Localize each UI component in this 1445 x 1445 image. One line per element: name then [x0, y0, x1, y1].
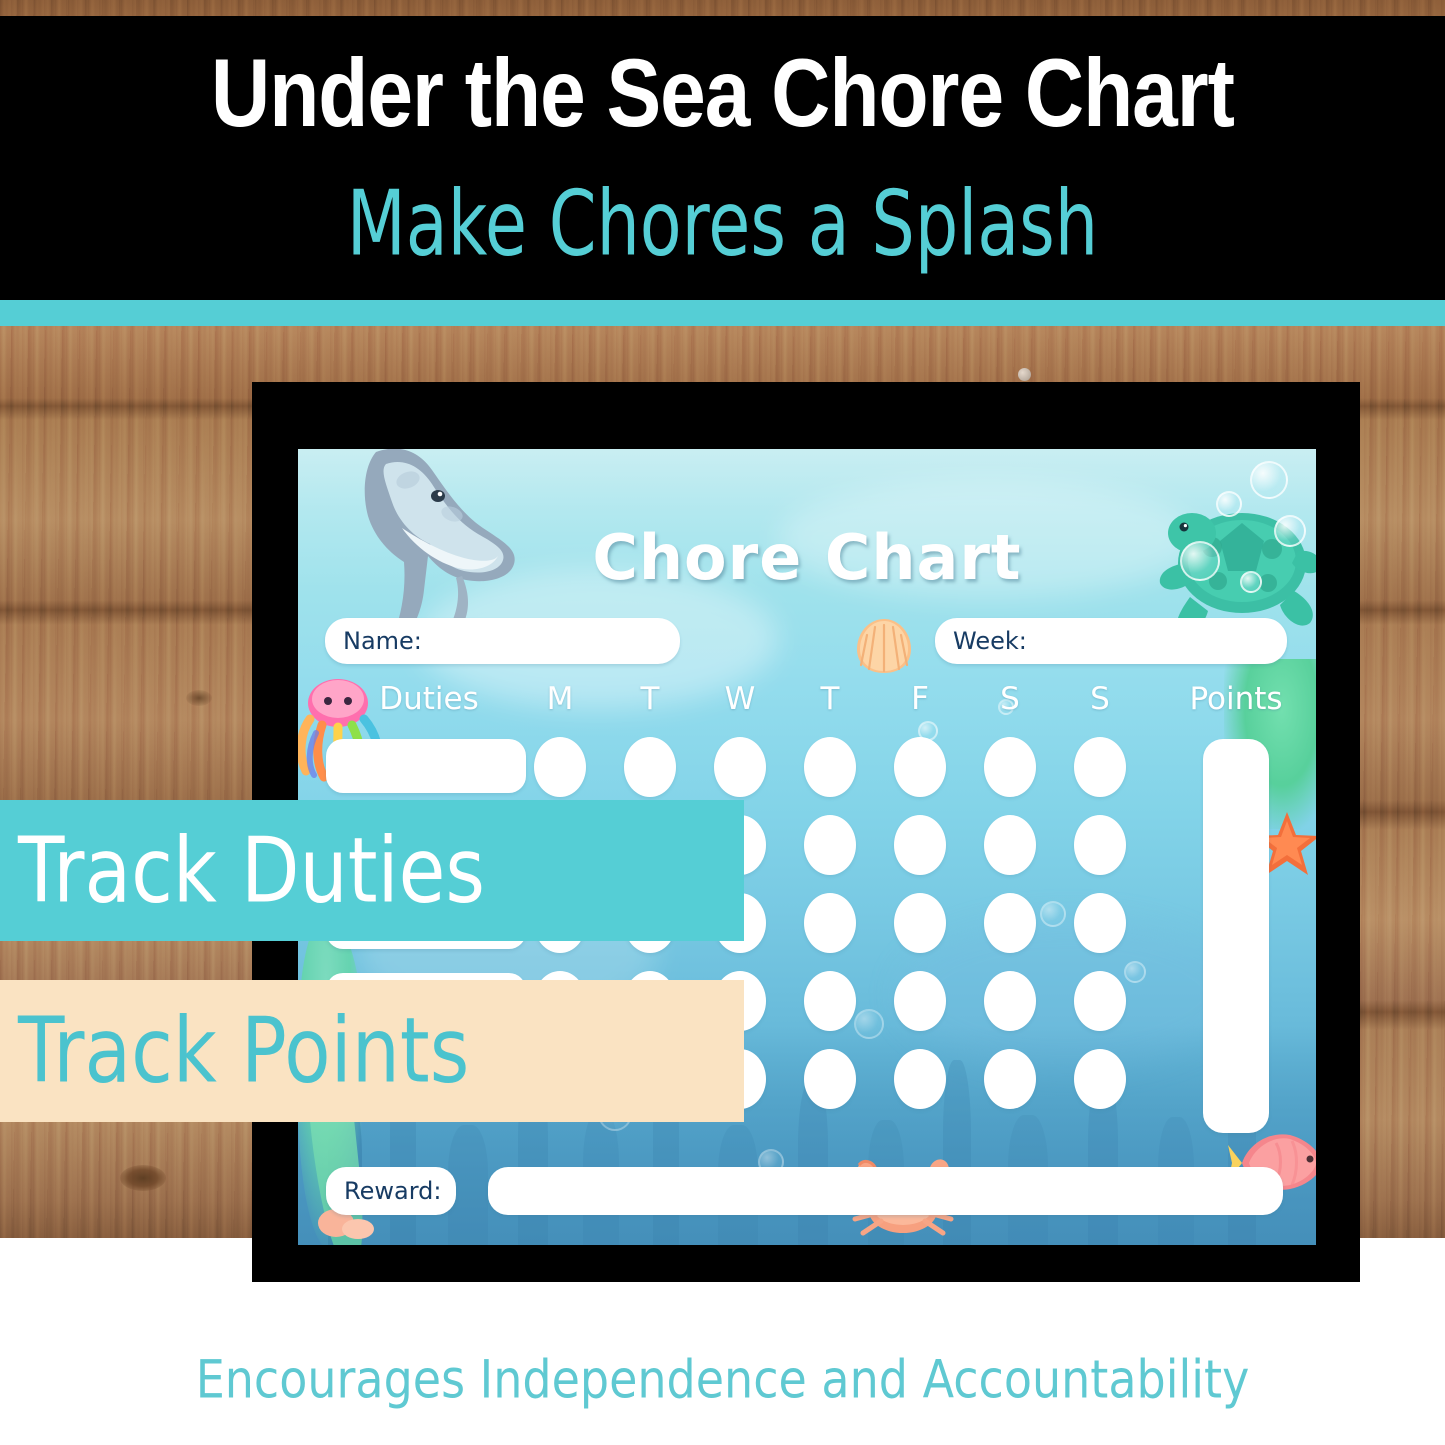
chore-checkbox[interactable]	[804, 893, 856, 953]
chore-checkbox[interactable]	[984, 737, 1036, 797]
chore-checkbox[interactable]	[804, 1049, 856, 1109]
track-duties-banner: Track Duties	[0, 800, 744, 941]
screw-icon	[1018, 368, 1031, 381]
week-label: Week:	[935, 627, 1027, 655]
chart-title: Chore Chart	[298, 521, 1316, 594]
chore-checkbox[interactable]	[1074, 1049, 1126, 1109]
column-header-monday: M	[530, 681, 590, 717]
column-header-tuesday: T	[620, 681, 680, 717]
seashell-icon	[853, 617, 915, 675]
column-header-wednesday: W	[710, 681, 770, 717]
track-duties-label: Track Duties	[0, 826, 485, 916]
week-field[interactable]: Week:	[935, 618, 1287, 664]
track-points-banner: Track Points	[0, 980, 744, 1122]
chore-checkbox[interactable]	[984, 893, 1036, 953]
chore-checkbox[interactable]	[894, 815, 946, 875]
accent-strip	[0, 300, 1445, 326]
column-header-thursday: T	[800, 681, 860, 717]
header-banner: Under the Sea Chore Chart Make Chores a …	[0, 16, 1445, 300]
column-header-saturday: S	[980, 681, 1040, 717]
chore-checkbox[interactable]	[984, 815, 1036, 875]
column-header-sunday: S	[1070, 681, 1130, 717]
footer-caption: Encourages Independence and Accountabili…	[0, 1348, 1445, 1410]
chore-checkbox[interactable]	[714, 737, 766, 797]
column-header-duties: Duties	[344, 681, 514, 717]
chore-checkbox[interactable]	[1074, 815, 1126, 875]
chore-checkbox[interactable]	[894, 971, 946, 1031]
name-field[interactable]: Name:	[325, 618, 680, 664]
chore-checkbox[interactable]	[894, 893, 946, 953]
chore-checkbox[interactable]	[894, 737, 946, 797]
column-header-friday: F	[890, 681, 950, 717]
chore-checkbox[interactable]	[984, 971, 1036, 1031]
points-input-column[interactable]	[1203, 739, 1269, 1133]
wood-knot-icon	[186, 690, 212, 706]
duty-input-row[interactable]	[326, 739, 526, 793]
chore-checkbox[interactable]	[534, 737, 586, 797]
page-subtitle: Make Chores a Splash	[347, 178, 1098, 268]
bubble-icon	[1250, 461, 1288, 499]
chore-checkbox[interactable]	[1074, 893, 1126, 953]
chore-checkbox[interactable]	[1074, 737, 1126, 797]
column-header-points: Points	[1148, 681, 1316, 717]
chore-checkbox[interactable]	[1074, 971, 1126, 1031]
reward-label: Reward:	[326, 1177, 441, 1205]
reward-label-pill: Reward:	[326, 1167, 456, 1215]
column-header-row: Duties M T W T F S S Points	[298, 681, 1316, 723]
chore-checkbox[interactable]	[804, 815, 856, 875]
track-points-label: Track Points	[0, 1006, 469, 1096]
chore-checkbox[interactable]	[624, 737, 676, 797]
reward-input[interactable]	[488, 1167, 1283, 1215]
page-title: Under the Sea Chore Chart	[211, 46, 1234, 143]
chore-checkbox[interactable]	[984, 1049, 1036, 1109]
name-label: Name:	[325, 627, 422, 655]
chore-checkbox[interactable]	[804, 737, 856, 797]
wood-knot-icon	[120, 1165, 166, 1191]
chore-checkbox[interactable]	[804, 971, 856, 1031]
bubble-icon	[1216, 491, 1242, 517]
chore-checkbox[interactable]	[894, 1049, 946, 1109]
